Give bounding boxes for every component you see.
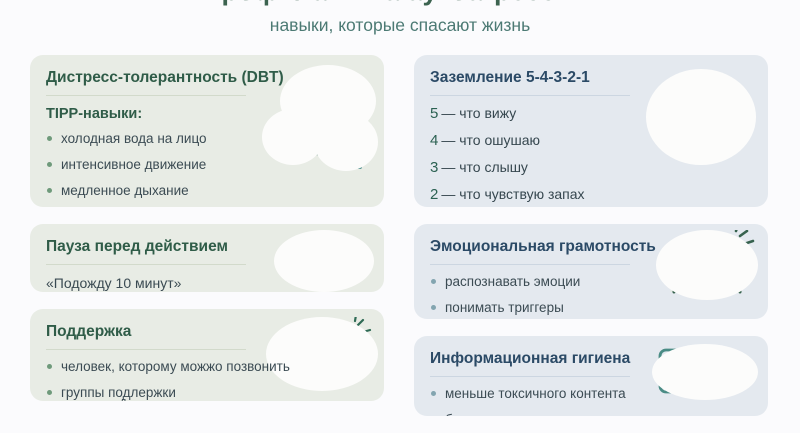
step-label: — что слышу	[441, 159, 528, 175]
step-number: 2	[430, 186, 438, 203]
card-title: Дистресс-толерантность (DBT)	[46, 68, 368, 88]
list-item: больше	[430, 411, 752, 416]
card-title: Эмоциональная грамотность	[430, 237, 752, 257]
list-item: 4— что ошушаю	[430, 131, 752, 150]
card-pause-before-action[interactable]: Пауза перед действием «Подожду 10 минут»	[30, 224, 384, 292]
card-emotional-literacy[interactable]: Эмоциональная грамотность распознавать э…	[414, 224, 768, 319]
list-item: холодная вода на лицо	[46, 130, 368, 147]
list-item: 3— что слышу	[430, 158, 752, 177]
cards-board: Дистресс-толерантность (DBT) TIPP-навыки…	[0, 55, 800, 400]
card-information-hygiene[interactable]: Информационная гигиена меньше токсичного…	[414, 336, 768, 416]
list-item: интенсивное движение	[46, 156, 368, 173]
glyph-artifact: д	[120, 397, 126, 401]
right-column: Заземление 5-4-3-2-1 5— что вижу 4— что …	[414, 55, 768, 433]
title-divider	[430, 376, 630, 377]
card-title: Информационная гигиена	[430, 349, 752, 369]
list-item: медленное дыхание	[46, 182, 368, 199]
list-item: 2— что чувствую запах	[430, 185, 752, 204]
title-divider	[46, 349, 246, 350]
bullet-list: холодная вода на лицо интенсивное движен…	[46, 130, 368, 207]
title-divider	[46, 264, 246, 265]
bullet-list: человек, которому можжо позвонить группы…	[46, 358, 368, 401]
left-column: Дистресс-толерантность (DBT) TIPP-навыки…	[30, 55, 384, 418]
step-label: — что ошушаю	[441, 132, 540, 148]
list-item: распознавать эмоции	[430, 273, 752, 290]
step-number: 4	[430, 132, 438, 149]
page-title: Профилактика аутоагрессии:	[0, 0, 800, 8]
page-header: Профилактика аутоагрессии: навыки, котор…	[0, 0, 800, 38]
card-grounding[interactable]: Заземление 5-4-3-2-1 5— что вижу 4— что …	[414, 55, 768, 207]
step-label: — что вижу	[441, 105, 516, 121]
bullet-list: распознавать эмоции понимать триггеры ра…	[430, 273, 752, 319]
step-number: 5	[430, 105, 438, 122]
list-item: группы подлержки д	[46, 384, 368, 401]
list-item: человек, которому можжо позвонить	[46, 358, 368, 375]
page-subtitle: навыки, которые спасают жизнь	[0, 12, 800, 38]
step-label: — что чувствую запах	[441, 186, 584, 202]
card-title: Поддержка	[46, 322, 368, 342]
card-distress-tolerance[interactable]: Дистресс-толерантность (DBT) TIPP-навыки…	[30, 55, 384, 207]
list-item-label: группы подлержки	[61, 385, 176, 400]
card-quote: «Подожду 10 минут»	[46, 273, 368, 292]
title-divider	[430, 95, 630, 96]
list-item: меньше токсичного контента	[430, 385, 752, 402]
list-item: понимать триггеры	[430, 299, 752, 316]
grounding-steps-list: 5— что вижу 4— что ошушаю 3— что слышу 2…	[430, 104, 752, 207]
card-title: Пауза перед действием	[46, 237, 368, 257]
card-sublabel: TIPP-навыки:	[46, 104, 368, 124]
title-divider	[430, 264, 630, 265]
list-item: 5— что вижу	[430, 104, 752, 123]
card-support[interactable]: Поддержка человек, которому можжо позвон…	[30, 309, 384, 401]
bullet-list: меньше токсичного контента больше	[430, 385, 752, 416]
card-title: Заземление 5-4-3-2-1	[430, 68, 752, 88]
title-divider	[46, 95, 246, 96]
step-number: 3	[430, 159, 438, 176]
